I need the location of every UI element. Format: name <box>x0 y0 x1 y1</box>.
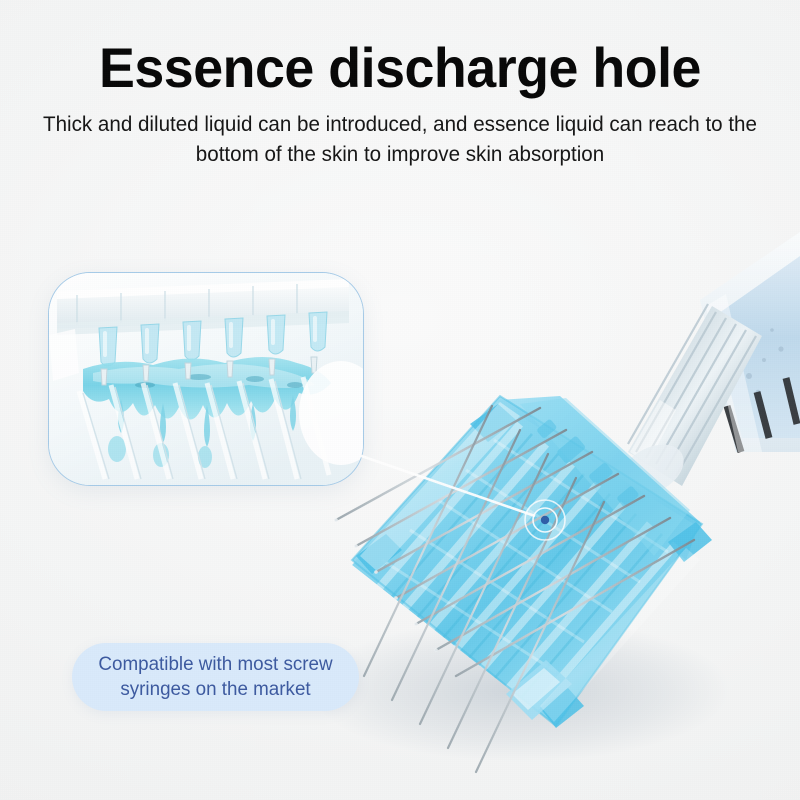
inset-artwork <box>49 273 363 485</box>
screw-syringe-barrel <box>612 232 800 506</box>
magnified-discharge-hole-inset <box>48 272 364 486</box>
page-subtitle: Thick and diluted liquid can be introduc… <box>37 110 762 171</box>
compatibility-callout-text: Compatible with most screw syringes on t… <box>73 652 357 702</box>
header-block: Essence discharge hole Thick and diluted… <box>0 0 800 171</box>
product-feature-image: Compatible with most screw syringes on t… <box>0 0 800 800</box>
page-title: Essence discharge hole <box>16 0 784 96</box>
compatibility-callout-pill: Compatible with most screw syringes on t… <box>72 643 359 711</box>
